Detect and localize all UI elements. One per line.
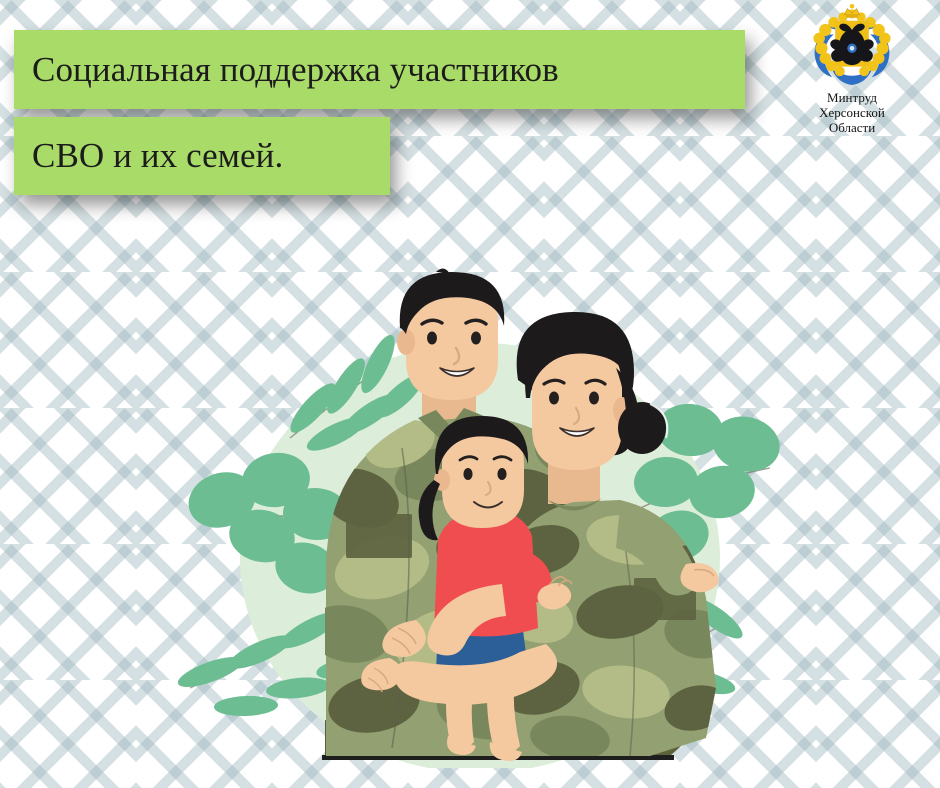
logo-caption-line-1: Минтруд <box>792 90 912 105</box>
ministry-logo-caption: Минтруд Херсонской Области <box>792 90 912 135</box>
title-text-line-2: СВО и их семей. <box>14 136 283 176</box>
coat-of-arms-icon <box>804 4 900 88</box>
mother-eye-right <box>589 392 599 405</box>
logo-caption-line-2: Херсонской <box>792 105 912 120</box>
military-family-illustration <box>150 268 790 768</box>
ministry-logo-block: Минтруд Херсонской Области <box>792 4 912 135</box>
title-banner-line-2: СВО и их семей. <box>14 117 390 195</box>
father-eye-right <box>471 332 481 345</box>
child-eye-left <box>463 468 472 480</box>
father-eye-left <box>427 332 437 345</box>
mother-eye-left <box>549 392 559 405</box>
child-eye-right <box>497 468 506 480</box>
logo-caption-line-3: Области <box>792 120 912 135</box>
poster-slide: Социальная поддержка участников СВО и их… <box>0 0 940 788</box>
title-text-line-1: Социальная поддержка участников <box>14 50 559 90</box>
title-banner-line-1: Социальная поддержка участников <box>14 30 745 109</box>
father-pocket <box>346 514 412 558</box>
